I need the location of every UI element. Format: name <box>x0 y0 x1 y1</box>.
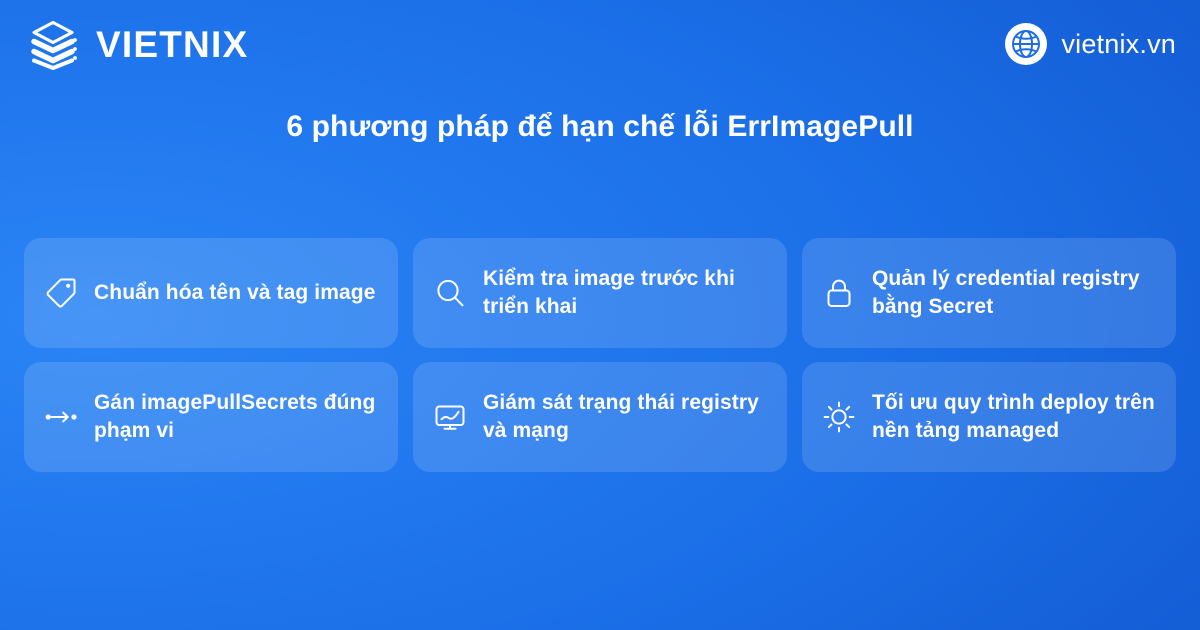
method-card-label: Gán imagePullSecrets đúng phạm vi <box>94 389 380 444</box>
method-card-label: Kiểm tra image trước khi triển khai <box>483 265 769 320</box>
poster-header: VIETNIX vietnix.vn <box>0 0 1200 88</box>
method-card-label: Chuẩn hóa tên và tag image <box>94 279 376 307</box>
method-card[interactable]: Kiểm tra image trước khi triển khai <box>413 238 787 348</box>
stacked-layers-icon <box>26 16 82 72</box>
arrow-flow-icon <box>44 400 78 434</box>
page-title: 6 phương pháp để hạn chế lỗi ErrImagePul… <box>0 108 1200 146</box>
globe-icon <box>1004 22 1048 66</box>
lock-icon <box>822 276 856 310</box>
method-card-grid: Chuẩn hóa tên và tag image Kiểm tra imag… <box>24 238 1176 472</box>
method-card[interactable]: Tối ưu quy trình deploy trên nền tảng ma… <box>802 362 1176 472</box>
search-icon <box>433 276 467 310</box>
method-card[interactable]: Gán imagePullSecrets đúng phạm vi <box>24 362 398 472</box>
method-card-label: Quản lý credential registry bằng Secret <box>872 265 1158 320</box>
method-card-label: Giám sát trạng thái registry và mạng <box>483 389 769 444</box>
method-card[interactable]: Chuẩn hóa tên và tag image <box>24 238 398 348</box>
method-card[interactable]: Giám sát trạng thái registry và mạng <box>413 362 787 472</box>
sun-icon <box>822 400 856 434</box>
method-card[interactable]: Quản lý credential registry bằng Secret <box>802 238 1176 348</box>
tag-icon <box>44 276 78 310</box>
site-url-group[interactable]: vietnix.vn <box>1004 22 1176 66</box>
monitor-chart-icon <box>433 400 467 434</box>
site-url-text: vietnix.vn <box>1061 31 1176 58</box>
method-card-label: Tối ưu quy trình deploy trên nền tảng ma… <box>872 389 1158 444</box>
brand-logo: VIETNIX <box>26 16 248 72</box>
poster-canvas: VIETNIX vietnix.vn 6 phương pháp để hạn … <box>0 0 1200 630</box>
brand-name: VIETNIX <box>96 26 248 63</box>
